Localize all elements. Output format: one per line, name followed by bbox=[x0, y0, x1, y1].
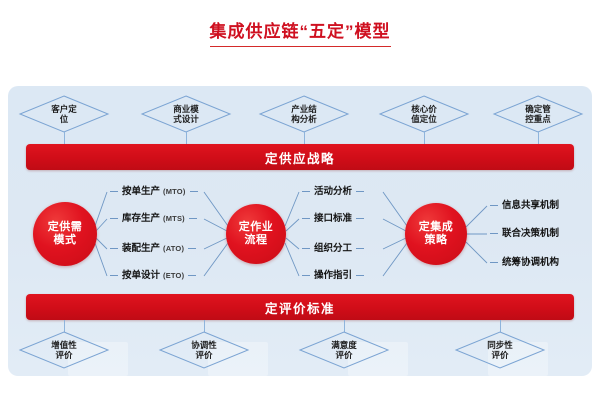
top-diamond-business-model-design[interactable]: 商业模 式设计 bbox=[140, 94, 232, 134]
dash-left bbox=[490, 233, 498, 234]
dash-right bbox=[356, 218, 364, 219]
top-diamond-label: 核心价 值定位 bbox=[378, 94, 470, 134]
dash-right bbox=[188, 275, 196, 276]
circle-supply-demand-mode[interactable]: 定供需 模式 bbox=[33, 202, 97, 266]
item-label: 库存生产 bbox=[122, 213, 160, 224]
dash-right bbox=[356, 248, 364, 249]
bottom-diamond-label: 增值性 评价 bbox=[18, 330, 110, 370]
dash-right bbox=[189, 218, 197, 219]
circle-operation-process[interactable]: 定作业 流程 bbox=[226, 204, 286, 264]
item-code: (MTS) bbox=[163, 213, 185, 224]
item-organization-division[interactable]: 组织分工 bbox=[298, 243, 368, 254]
circle-integration-strategy[interactable]: 定集成 策略 bbox=[405, 203, 467, 265]
item-label: 装配生产 bbox=[122, 243, 160, 254]
page-title: 集成供应链“五定”模型 bbox=[0, 22, 600, 47]
item-label: 操作指引 bbox=[314, 270, 352, 281]
connector-tick bbox=[424, 132, 425, 144]
dash-right bbox=[356, 275, 364, 276]
item-label: 按单生产 bbox=[122, 186, 160, 197]
item-assemble-to-order[interactable]: 装配生产 (ATO) bbox=[106, 243, 200, 254]
top-diamond-customer-positioning[interactable]: 客户定 位 bbox=[18, 94, 110, 134]
bottom-diamond-label: 满意度 评价 bbox=[298, 330, 390, 370]
top-diamond-control-priority[interactable]: 确定管 控重点 bbox=[492, 94, 584, 134]
bar-supply-strategy-label: 定供应战略 bbox=[265, 148, 335, 167]
item-code: (ATO) bbox=[163, 243, 184, 254]
bottom-diamond-value-added-evaluation[interactable]: 增值性 评价 bbox=[18, 330, 110, 370]
dash-right bbox=[188, 248, 196, 249]
top-diamond-industry-structure-analysis[interactable]: 产业结 构分析 bbox=[258, 94, 350, 134]
bar-evaluation-standard[interactable]: 定评价标准 bbox=[26, 294, 574, 320]
item-make-to-order[interactable]: 按单生产 (MTO) bbox=[106, 186, 202, 197]
bottom-diamond-coordination-evaluation[interactable]: 协调性 评价 bbox=[158, 330, 250, 370]
item-operation-guideline[interactable]: 操作指引 bbox=[298, 270, 368, 281]
dash-left bbox=[302, 248, 310, 249]
bar-supply-strategy[interactable]: 定供应战略 bbox=[26, 144, 574, 170]
item-label: 联合决策机制 bbox=[502, 228, 559, 239]
top-diamond-label: 商业模 式设计 bbox=[140, 94, 232, 134]
dash-left bbox=[110, 248, 118, 249]
item-coordination-organization[interactable]: 统筹协调机构 bbox=[486, 257, 559, 268]
item-label: 接口标准 bbox=[314, 213, 352, 224]
diagram-panel: 客户定 位 商业模 式设计 产业结 构分析 bbox=[8, 86, 592, 376]
dash-left bbox=[490, 205, 498, 206]
item-make-to-stock[interactable]: 库存生产 (MTS) bbox=[106, 213, 201, 224]
dash-right bbox=[190, 191, 198, 192]
page-title-text: 集成供应链“五定”模型 bbox=[210, 22, 391, 47]
bottom-diamond-synchronization-evaluation[interactable]: 同步性 评价 bbox=[454, 330, 546, 370]
item-interface-standard[interactable]: 接口标准 bbox=[298, 213, 368, 224]
bar-evaluation-standard-label: 定评价标准 bbox=[265, 298, 335, 317]
item-joint-decision-mechanism[interactable]: 联合决策机制 bbox=[486, 228, 559, 239]
bottom-diamond-satisfaction-evaluation[interactable]: 满意度 评价 bbox=[298, 330, 390, 370]
dash-left bbox=[302, 191, 310, 192]
connector-tick bbox=[186, 132, 187, 144]
connector-tick bbox=[64, 132, 65, 144]
diagram-canvas: 集成供应链“五定”模型 客户定 位 商业模 式设计 bbox=[0, 0, 600, 400]
dash-left bbox=[302, 275, 310, 276]
dash-left bbox=[110, 218, 118, 219]
dash-left bbox=[110, 275, 118, 276]
dash-left bbox=[302, 218, 310, 219]
connector-tick bbox=[538, 132, 539, 144]
dash-right bbox=[356, 191, 364, 192]
top-diamond-label: 客户定 位 bbox=[18, 94, 110, 134]
item-label: 统筹协调机构 bbox=[502, 257, 559, 268]
dash-left bbox=[110, 191, 118, 192]
item-activity-analysis[interactable]: 活动分析 bbox=[298, 186, 368, 197]
item-code: (MTO) bbox=[163, 186, 186, 197]
item-label: 组织分工 bbox=[314, 243, 352, 254]
connector-tick bbox=[304, 132, 305, 144]
item-information-sharing-mechanism[interactable]: 信息共享机制 bbox=[486, 200, 559, 211]
item-label: 按单设计 bbox=[122, 270, 160, 281]
dash-left bbox=[490, 262, 498, 263]
bottom-diamond-label: 协调性 评价 bbox=[158, 330, 250, 370]
item-label: 活动分析 bbox=[314, 186, 352, 197]
item-label: 信息共享机制 bbox=[502, 200, 559, 211]
top-diamond-core-value-positioning[interactable]: 核心价 值定位 bbox=[378, 94, 470, 134]
item-code: (ETO) bbox=[163, 270, 184, 281]
item-engineer-to-order[interactable]: 按单设计 (ETO) bbox=[106, 270, 200, 281]
bottom-diamond-label: 同步性 评价 bbox=[454, 330, 546, 370]
top-diamond-label: 产业结 构分析 bbox=[258, 94, 350, 134]
top-diamond-label: 确定管 控重点 bbox=[492, 94, 584, 134]
